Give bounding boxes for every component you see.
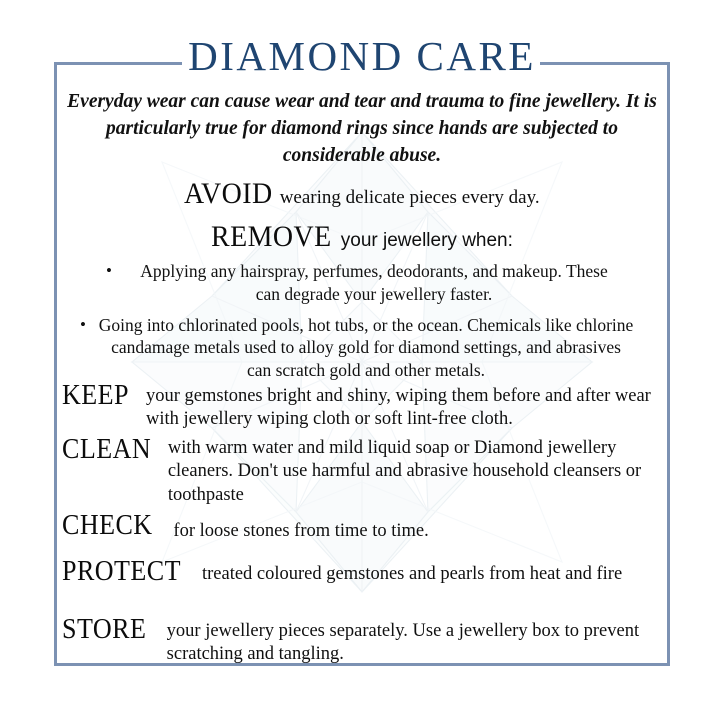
care-row-keep: KEEP your gemstones bright and shiny, wi… — [62, 380, 668, 432]
remove-keyword: REMOVE — [211, 220, 332, 254]
bullet-icon: • — [106, 260, 112, 282]
keep-text: your gemstones bright and shiny, wiping … — [146, 380, 668, 432]
list-item-text: Applying any hairspray, perfumes, deodor… — [64, 260, 660, 306]
protect-text: treated coloured gemstones and pearls fr… — [202, 556, 668, 586]
store-keyword: STORE — [62, 614, 159, 644]
intro-paragraph: Everyday wear can cause wear and tear an… — [62, 89, 662, 170]
remove-text: your jewellery when: — [341, 230, 513, 251]
check-text: for loose stones from time to time. — [173, 510, 668, 543]
clean-text: with warm water and mild liquid soap or … — [168, 434, 668, 507]
list-item-text: Going into chlorinated pools, hot tubs, … — [64, 314, 660, 382]
store-text: your jewellery pieces separately. Use a … — [167, 614, 668, 667]
avoid-keyword: AVOID — [184, 177, 273, 211]
keep-keyword: KEEP — [62, 380, 140, 410]
clean-keyword: CLEAN — [62, 434, 160, 464]
avoid-text: wearing delicate pieces every day. — [280, 187, 540, 208]
remove-bullet-list: • Applying any hairspray, perfumes, deod… — [64, 260, 660, 390]
care-row-store: STORE your jewellery pieces separately. … — [62, 614, 668, 667]
care-row-clean: CLEAN with warm water and mild liquid so… — [62, 434, 668, 507]
diamond-care-poster: DIAMOND CARE Everyday wear can cause wea… — [0, 0, 720, 720]
avoid-line: AVOIDwearing delicate pieces every day. — [54, 177, 670, 211]
page-title: DIAMOND CARE — [54, 36, 670, 77]
bullet-icon: • — [80, 314, 86, 336]
check-keyword: CHECK — [62, 510, 166, 540]
remove-line: REMOVEyour jewellery when: — [54, 220, 670, 254]
poster-content: DIAMOND CARE Everyday wear can cause wea… — [54, 62, 670, 666]
care-row-protect: PROTECT treated coloured gemstones and p… — [62, 556, 668, 586]
care-row-check: CHECK for loose stones from time to time… — [62, 510, 668, 543]
list-item: • Applying any hairspray, perfumes, deod… — [64, 260, 660, 306]
protect-keyword: PROTECT — [62, 556, 192, 586]
list-item: • Going into chlorinated pools, hot tubs… — [64, 314, 660, 382]
